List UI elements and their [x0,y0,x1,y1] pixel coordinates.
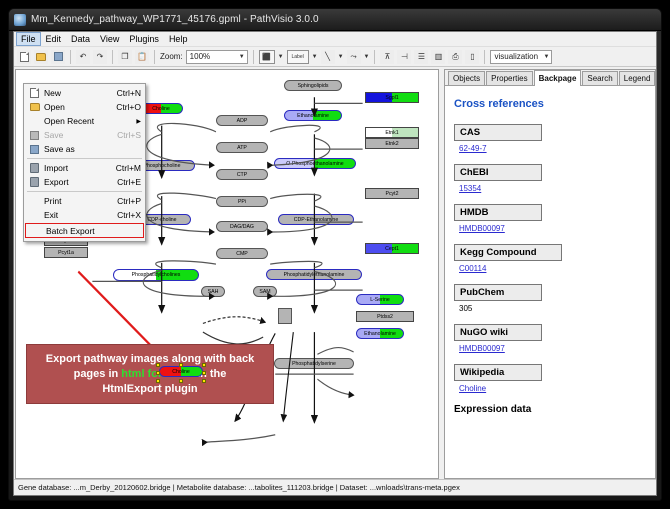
pathway-node-cept1[interactable]: Cept1 [365,243,419,254]
menu-plugins[interactable]: Plugins [124,32,164,46]
callout-line-1: Export pathway images along with back [46,352,254,367]
toolbar-separator-4 [253,50,254,64]
xref-value-chebi[interactable]: 15354 [459,184,646,193]
pathway-node-ptdss2[interactable]: Ptdss2 [356,311,414,322]
print-icon[interactable]: ⎙ [448,50,462,64]
toolbar: ↶ ↷ ❐ 📋 Zoom: 100% ▼ ⬛ ▼ Label ▼ ╲ ▼ ⤳ ▼… [14,47,656,67]
cross-references-title: Cross references [454,98,646,110]
blank-icon [28,210,41,221]
status-text: Gene database: ...m_Derby_20120602.bridg… [18,483,460,492]
blank-icon [30,225,43,236]
pathway-node-pcyt1a[interactable]: Pcyt1a [44,247,88,258]
pathway-node-atp[interactable]: ATP [216,142,268,153]
chevron-down-icon: ▼ [544,54,550,60]
paste-icon[interactable]: 📋 [135,50,149,64]
align-left-icon[interactable]: ⊣ [397,50,411,64]
zoom-value: 100% [190,52,210,61]
menu-item-save-as-label: Save as [44,144,141,154]
xref-header-pubchem: PubChem [454,284,542,301]
xref-link-hmdb[interactable]: HMDB00097 [459,224,505,233]
pathway-node-o-phosphoethanolamine[interactable]: O-Phosphoethanolamine [274,158,356,169]
menu-item-open-accel: Ctrl+O [116,102,141,112]
client-area: File Edit Data View Plugins Help ↶ ↷ ❐ 📋… [13,31,657,496]
pathway-node-adp[interactable]: ADP [216,115,268,126]
gene-product-icon[interactable]: ⬛ [259,50,275,64]
toolbar-separator-3 [154,50,155,64]
gene-product-dropdown-icon[interactable]: ▼ [278,54,284,60]
xref-header-wikipedia: Wikipedia [454,364,542,381]
title-bar: Mm_Kennedy_pathway_WP1771_45176.gpml - P… [9,9,661,31]
toolbar-separator-2 [112,50,113,64]
chevron-down-icon: ▼ [239,54,245,60]
menu-item-export-accel: Ctrl+E [117,177,141,187]
side-panel-tabs: Objects Properties Backpage Search Legen… [445,70,655,86]
menu-item-new-label: New [44,88,117,98]
toolbar-separator-6 [484,50,485,64]
xref-link-cas[interactable]: 62-49-7 [459,144,487,153]
menu-item-print[interactable]: Print Ctrl+P [24,194,145,208]
xref-value-cas[interactable]: 62-49-7 [459,144,646,153]
save-icon [28,130,41,141]
expression-data-title: Expression data [454,404,646,415]
status-bar: Gene database: ...m_Derby_20120602.bridg… [14,479,656,495]
pathway-node-sphingolipids[interactable]: Sphingolipids [284,80,342,91]
xref-value-nugo[interactable]: HMDB00097 [459,344,646,353]
save-as-icon [28,144,41,155]
save-icon[interactable] [51,50,65,64]
pathway-node-ethanolamine-bottom[interactable]: Ethanolamine [356,328,404,339]
distribute-icon[interactable]: ▥ [431,50,445,64]
menu-item-open[interactable]: Open Ctrl+O [24,100,145,114]
pathway-node-sam[interactable]: SAM [253,286,277,297]
callout-line-3: HtmlExport plugin [102,382,197,397]
xref-header-cas: CAS [454,124,542,141]
copy-icon[interactable]: ❐ [118,50,132,64]
tab-search[interactable]: Search [582,71,617,85]
menu-item-new-accel: Ctrl+N [117,88,141,98]
pathway-node-cdp-ethanolamine[interactable]: CDP-Ethanolamine [278,214,354,225]
redo-icon[interactable]: ↷ [93,50,107,64]
xref-value-pubchem: 305 [459,304,646,313]
stack-vertical-icon[interactable]: ☰ [414,50,428,64]
menu-item-save: Save Ctrl+S [24,128,145,142]
toolbar-separator-5 [374,50,375,64]
pathway-node-sah[interactable]: SAH [201,286,225,297]
blank-icon [28,196,41,207]
label-button[interactable]: Label [287,50,309,64]
xref-value-hmdb[interactable]: HMDB00097 [459,224,646,233]
xref-link-kegg[interactable]: C00114 [459,264,486,273]
menu-item-open-recent[interactable]: Open Recent ▶ [24,114,145,128]
align-top-icon[interactable]: ⊼ [380,50,394,64]
xref-value-kegg[interactable]: C00114 [459,264,646,273]
tab-backpage[interactable]: Backpage [534,70,582,86]
pathway-node-etnk2[interactable]: Etnk2 [365,138,419,149]
zoom-label: Zoom: [160,52,183,61]
submenu-arrow-icon: ▶ [136,118,141,125]
line-icon[interactable]: ╲ [321,50,335,64]
new-page-icon [28,88,41,99]
xref-link-nugo[interactable]: HMDB00097 [459,344,505,353]
pathway-node-l-serine[interactable]: L-Serine [356,294,404,305]
undo-icon[interactable]: ↶ [76,50,90,64]
xref-link-wikipedia[interactable]: Choline [459,384,486,393]
new-icon[interactable] [17,50,31,64]
window-title: Mm_Kennedy_pathway_WP1771_45176.gpml - P… [31,14,319,25]
xref-header-nugo: NuGO wiki [454,324,542,341]
file-menu-popup[interactable]: New Ctrl+N Open Ctrl+O Open Recent ▶ Sav… [23,83,146,242]
pathway-node-phosphatidylcholines[interactable]: Phosphatidylcholines [113,269,199,281]
menu-item-import[interactable]: Import Ctrl+M [24,161,145,175]
pathway-node-phosphatidylserine[interactable]: Phosphatidylserine [274,358,354,369]
pathway-node-sgpl1[interactable]: Sgpl1 [365,92,419,103]
pathway-anchor-block[interactable] [278,308,292,324]
tab-properties[interactable]: Properties [486,71,532,85]
menu-item-export[interactable]: Export Ctrl+E [24,175,145,189]
menu-item-new[interactable]: New Ctrl+N [24,86,145,100]
xref-header-hmdb: HMDB [454,204,542,221]
menu-item-exit[interactable]: Exit Ctrl+X [24,208,145,222]
label-dropdown-icon[interactable]: ▼ [312,54,318,60]
xref-value-wikipedia[interactable]: Choline [459,384,646,393]
menu-item-exit-label: Exit [44,210,117,220]
xref-header-chebi: ChEBI [454,164,542,181]
menu-item-open-recent-label: Open Recent [44,116,136,126]
menu-help[interactable]: Help [164,32,193,46]
menu-edit[interactable]: Edit [41,32,67,46]
pathway-node-etnk1[interactable]: Etnk1 [365,127,419,138]
menu-file[interactable]: File [16,32,41,46]
menu-item-import-accel: Ctrl+M [116,163,141,173]
application-window: Mm_Kennedy_pathway_WP1771_45176.gpml - P… [8,8,662,501]
menu-item-exit-accel: Ctrl+X [117,210,141,220]
pathway-node-phosphatidylethanolamine[interactable]: Phosphatidylethanolamine [266,269,362,280]
tab-objects[interactable]: Objects [448,71,485,85]
xref-header-kegg: Kegg Compound [454,244,562,261]
tab-legend[interactable]: Legend [619,71,656,85]
toolbar-separator-1 [70,50,71,64]
menu-item-batch-export-label: Batch Export [46,226,139,236]
menu-view[interactable]: View [95,32,124,46]
menu-separator-2 [27,191,142,192]
pathway-node-choline-selected[interactable]: Choline [159,366,203,377]
pathway-node-cmp[interactable]: CMP [216,248,268,259]
visualization-value: visualization [494,52,538,61]
pathway-node-ethanolamine-top[interactable]: Ethanolamine [284,110,342,121]
annotation-callout: Export pathway images along with back pa… [26,344,274,404]
menu-item-batch-export[interactable]: Batch Export [25,223,144,238]
menu-item-save-accel: Ctrl+S [117,130,141,140]
xref-link-chebi[interactable]: 15354 [459,184,481,193]
menu-bar: File Edit Data View Plugins Help [14,32,656,47]
app-icon [14,14,26,26]
side-panel: Objects Properties Backpage Search Legen… [444,69,656,479]
menu-item-save-label: Save [44,130,117,140]
open-icon[interactable] [34,50,48,64]
pathway-node-ctp[interactable]: CTP [216,169,268,180]
backpage-content: Cross references CAS 62-49-7 ChEBI 15354… [445,86,655,478]
folder-icon [28,102,41,113]
menu-item-open-label: Open [44,102,116,112]
menu-item-print-accel: Ctrl+P [117,196,141,206]
callout-line-2-before: pages in [74,368,122,380]
import-icon [28,163,41,174]
interaction-icon[interactable]: ⤳ [347,50,361,64]
pathway-node-dag[interactable]: DAG/DAG [216,221,268,232]
blank-icon [28,116,41,127]
interaction-dropdown-icon[interactable]: ▼ [364,54,370,60]
menu-item-save-as[interactable]: Save as [24,142,145,156]
export-icon [28,177,41,188]
menu-item-export-label: Export [44,177,117,187]
menu-item-print-label: Print [44,196,117,206]
visualization-combo[interactable]: visualization ▼ [490,50,552,64]
pathway-node-ppi[interactable]: PPi [216,196,268,207]
menu-item-import-label: Import [44,163,116,173]
menu-separator-1 [27,158,142,159]
color-icon[interactable]: ▯ [465,50,479,64]
pathway-node-pcyt2[interactable]: Pcyt2 [365,188,419,199]
menu-data[interactable]: Data [66,32,95,46]
zoom-combo[interactable]: 100% ▼ [186,50,248,64]
line-dropdown-icon[interactable]: ▼ [338,54,344,60]
